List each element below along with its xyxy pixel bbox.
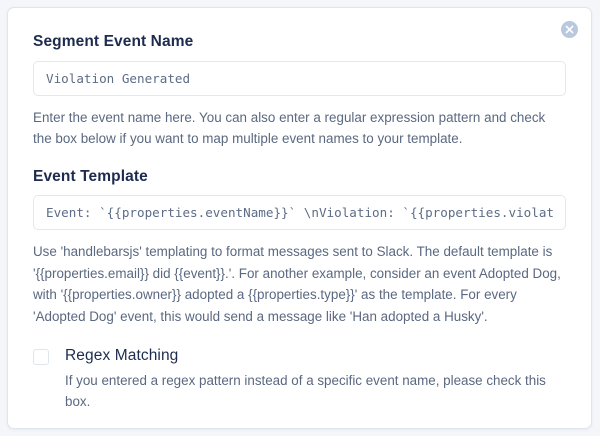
modal-dialog: Segment Event Name Enter the event name … xyxy=(7,7,592,429)
event-template-help: Use 'handlebarsjs' templating to format … xyxy=(33,241,566,327)
section-spacer xyxy=(33,150,566,168)
modal-body: Segment Event Name Enter the event name … xyxy=(8,8,591,413)
regex-matching-label[interactable]: Regex Matching xyxy=(65,346,565,365)
regex-matching-checkbox[interactable] xyxy=(33,349,49,365)
segment-event-name-input[interactable] xyxy=(33,61,566,96)
regex-matching-content: Regex Matching If you entered a regex pa… xyxy=(65,346,565,412)
event-template-input[interactable] xyxy=(33,195,566,230)
regex-matching-help: If you entered a regex pattern instead o… xyxy=(65,370,565,413)
regex-matching-row: Regex Matching If you entered a regex pa… xyxy=(33,346,566,412)
close-x-glyph xyxy=(565,25,574,34)
segment-event-name-label: Segment Event Name xyxy=(33,33,566,52)
close-icon[interactable] xyxy=(561,21,578,38)
event-template-label: Event Template xyxy=(33,168,566,187)
segment-event-name-help: Enter the event name here. You can also … xyxy=(33,107,566,150)
